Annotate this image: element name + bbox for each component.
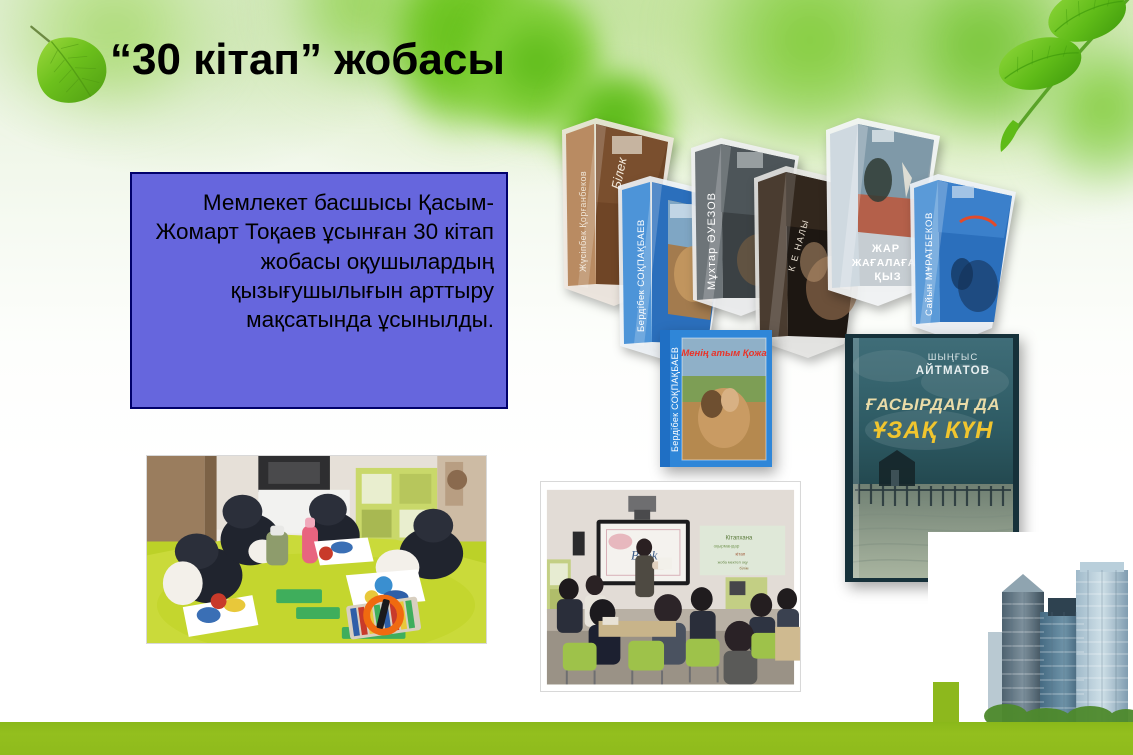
svg-text:ҰЗАҚ КҮН: ҰЗАҚ КҮН [873, 417, 994, 444]
green-bar [0, 722, 1133, 755]
book-cover-muratbekov: Сайын МҰРАТБЕКОВ [904, 170, 1020, 346]
photo-classroom-craft [146, 455, 487, 644]
svg-text:Бердібек СОҚПАҚБАЕВ: Бердібек СОҚПАҚБАЕВ [670, 347, 680, 452]
svg-text:Кітапхана: Кітапхана [726, 536, 753, 542]
svg-text:оқырмандар: оқырмандар [714, 543, 740, 548]
svg-text:білім: білім [739, 565, 748, 570]
photo-classroom-craft-image [147, 456, 486, 644]
photo-library-lesson: Book Кітапхана оқырмандар кітап жоба мек… [540, 481, 801, 692]
book-collection-image: Жүсіпбек Қорғанбеков Білек Бердібек СОҚП… [540, 108, 1040, 468]
svg-text:жоба мектеп оқу: жоба мектеп оқу [718, 559, 748, 564]
svg-text:кітап: кітап [735, 551, 745, 556]
svg-text:Менің атым Қожа: Менің атым Қожа [681, 348, 766, 359]
page-title: “30 кітап” жобасы [110, 35, 505, 85]
photo-library-lesson-image: Book Кітапхана оқырмандар кітап жоба мек… [541, 482, 800, 691]
book-cover-sokpakbaev-flat: Бердібек СОҚПАҚБАЕВ Менің атым Қожа [660, 330, 772, 467]
svg-text:ҒАСЫРДАН ДА: ҒАСЫРДАН ДА [866, 395, 1001, 414]
svg-text:ШЫҢҒЫС: ШЫҢҒЫС [928, 352, 978, 363]
svg-text:ЖАР: ЖАР [871, 243, 900, 255]
description-textbox: Мемлекет басшысы Қасым-Жомарт Тоқаев ұсы… [130, 172, 508, 409]
slide-canvas: “30 кітап” жобасы Мемлекет басшысы Қасым… [0, 0, 1133, 755]
description-text: Мемлекет басшысы Қасым-Жомарт Тоқаев ұсы… [132, 174, 506, 334]
svg-text:АЙТМАТОВ: АЙТМАТОВ [916, 364, 991, 377]
svg-text:ҚЫЗ: ҚЫЗ [874, 271, 901, 283]
green-accent-square [933, 682, 959, 722]
leaf-icon [14, 18, 122, 114]
